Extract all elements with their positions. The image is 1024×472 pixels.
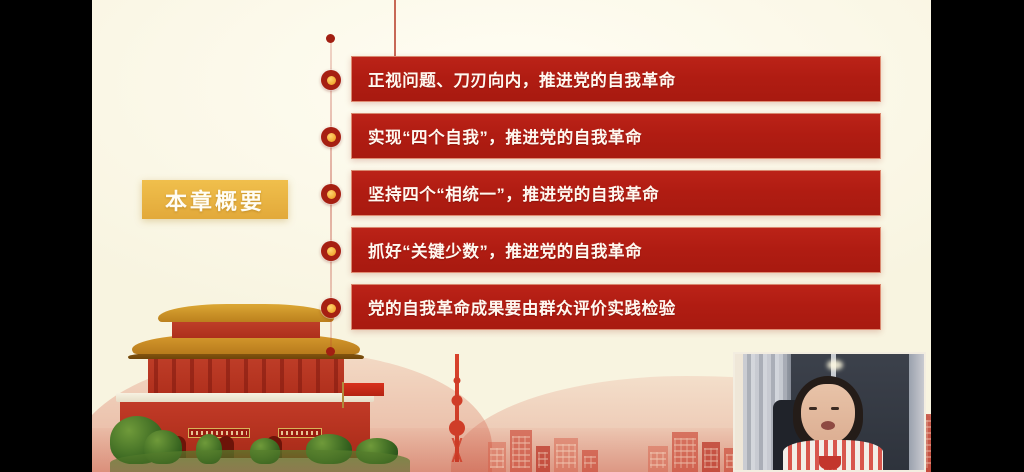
screen: 本章概要 正视问题、刀刃向内，推进党的自我革命 实现“四个自我”，推进党的自我革… <box>0 0 1024 472</box>
timeline-dot-1 <box>321 70 341 90</box>
outline-item-1: 正视问题、刀刃向内，推进党的自我革命 <box>351 56 881 102</box>
outline-item-4: 抓好“关键少数”，推进党的自我革命 <box>351 227 881 273</box>
building <box>488 442 506 472</box>
outline-item-label: 抓好“关键少数”，推进党的自我革命 <box>352 238 642 262</box>
oriental-pearl-tower-icon <box>444 354 470 462</box>
building <box>648 446 668 472</box>
red-flag-icon <box>342 382 386 408</box>
presenter-figure <box>781 362 885 470</box>
timeline-dot-4 <box>321 241 341 261</box>
mouth <box>821 421 835 430</box>
gate-upper-roof <box>158 304 334 322</box>
timeline-dot-5 <box>321 298 341 318</box>
lawn <box>110 450 410 472</box>
building <box>672 432 698 472</box>
building <box>582 450 598 472</box>
outline-item-label: 党的自我革命成果要由群众评价实践检验 <box>352 295 676 319</box>
tower-sphere-small <box>454 377 461 384</box>
tiananmen-gate-illustration <box>110 322 410 472</box>
face <box>801 384 855 444</box>
tower-sphere-large <box>449 420 465 436</box>
section-badge-label: 本章概要 <box>165 184 265 216</box>
timeline-endpoint-top <box>326 34 335 43</box>
timeline-endpoint-bottom <box>326 347 335 356</box>
timeline-rail <box>321 34 341 356</box>
building <box>510 430 532 472</box>
building <box>536 446 550 472</box>
outline-item-label: 正视问题、刀刃向内，推进党的自我革命 <box>352 67 676 91</box>
tower-sphere-mid <box>452 395 463 406</box>
presenter-webcam-overlay[interactable] <box>733 352 926 472</box>
building <box>702 442 720 472</box>
timeline-dot-2 <box>321 127 341 147</box>
outline-items-list: 正视问题、刀刃向内，推进党的自我革命 实现“四个自我”，推进党的自我革命 坚持四… <box>351 56 881 341</box>
outline-item-3: 坚持四个“相统一”，推进党的自我革命 <box>351 170 881 216</box>
section-badge: 本章概要 <box>142 180 288 219</box>
tower-legs <box>446 438 468 462</box>
eye-left <box>809 407 817 410</box>
outline-item-label: 坚持四个“相统一”，推进党的自我革命 <box>352 181 659 205</box>
timeline-dot-3 <box>321 184 341 204</box>
outline-item-label: 实现“四个自我”，推进党的自我革命 <box>352 124 642 148</box>
flag-cloth <box>344 383 384 396</box>
lantern-cord <box>394 0 396 60</box>
outline-item-2: 实现“四个自我”，推进党的自我革命 <box>351 113 881 159</box>
outline-item-5: 党的自我革命成果要由群众评价实践检验 <box>351 284 881 330</box>
eye-right <box>831 407 839 410</box>
gate-balustrade <box>116 393 374 402</box>
building <box>554 438 578 472</box>
collar <box>819 456 841 470</box>
